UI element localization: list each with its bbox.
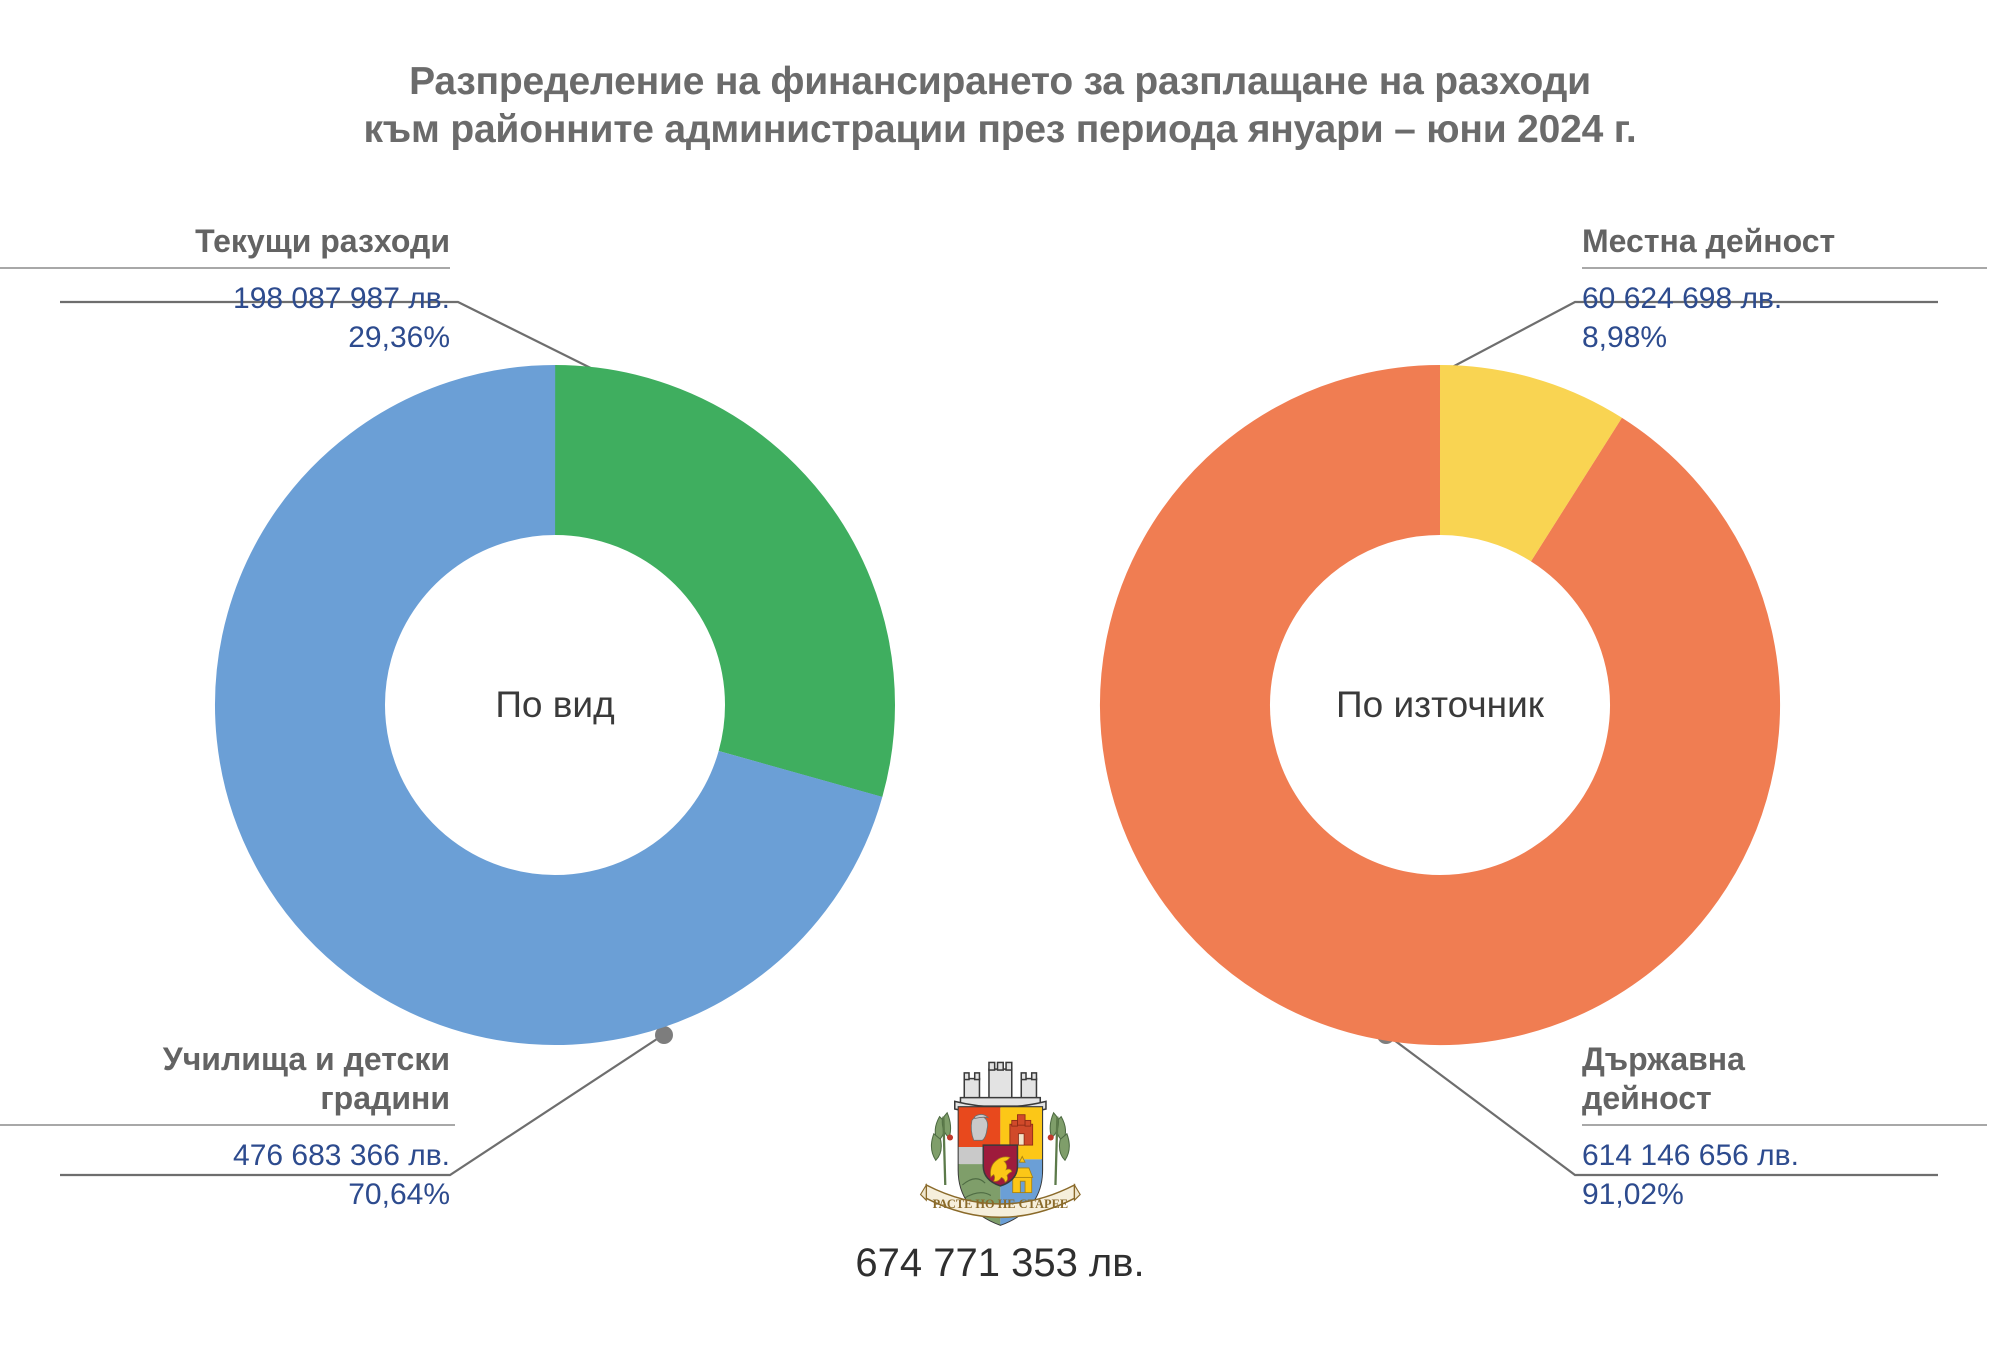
page-title-line-2: към районните администрации през периода… (0, 106, 2000, 154)
sofia-coat-of-arms-icon: РАСТЕ НО НЕ СТАРЕЕ (905, 1040, 1095, 1235)
page-title: Разпределение на финансирането за разпла… (0, 58, 2000, 153)
emblem-and-total: РАСТЕ НО НЕ СТАРЕЕ 674 771 353 лв. (855, 1040, 1144, 1286)
donut-svg-po-vid (205, 355, 905, 1055)
callout-state-value: 614 146 656 лв. (1582, 1136, 1982, 1175)
emblem-motto: РАСТЕ НО НЕ СТАРЕЕ (932, 1197, 1067, 1211)
callout-current-divider (0, 267, 450, 269)
donut-svg-po-iztochnik (1090, 355, 1790, 1055)
callout-state-percent: 91,02% (1582, 1175, 1982, 1214)
callout-state-activity: Държавна дейност 614 146 656 лв. 91,02% (1582, 1040, 1982, 1214)
callout-schools-divider (0, 1124, 455, 1126)
page-title-line-1: Разпределение на финансирането за разпла… (0, 58, 2000, 106)
callout-state-title-line-1: Държавна (1582, 1040, 1982, 1079)
callout-schools-title-line-1: Училища и детски (60, 1040, 450, 1079)
callout-state-divider (1582, 1124, 1987, 1126)
callout-state-title-line-2: дейност (1582, 1079, 1982, 1118)
callout-local-title: Местна дейност (1582, 222, 1982, 261)
callout-schools-value: 476 683 366 лв. (60, 1136, 450, 1175)
donut-chart-po-iztochnik: По източник (1090, 355, 1790, 1055)
callout-schools-kindergartens: Училища и детски градини 476 683 366 лв.… (60, 1040, 450, 1214)
callout-current-expenses: Текущи разходи 198 087 987 лв. 29,36% (55, 222, 450, 357)
donut-chart-po-vid: По вид (205, 355, 905, 1055)
callout-schools-percent: 70,64% (60, 1175, 450, 1214)
callout-local-value: 60 624 698 лв. (1582, 279, 1982, 318)
callout-current-value: 198 087 987 лв. (55, 279, 450, 318)
callout-schools-title-line-2: градини (60, 1079, 450, 1118)
callout-current-title: Текущи разходи (55, 222, 450, 261)
total-amount: 674 771 353 лв. (855, 1241, 1144, 1286)
callout-local-divider (1582, 267, 1987, 269)
callout-current-percent: 29,36% (55, 318, 450, 357)
callout-local-activity: Местна дейност 60 624 698 лв. 8,98% (1582, 222, 1982, 357)
callout-local-percent: 8,98% (1582, 318, 1982, 357)
